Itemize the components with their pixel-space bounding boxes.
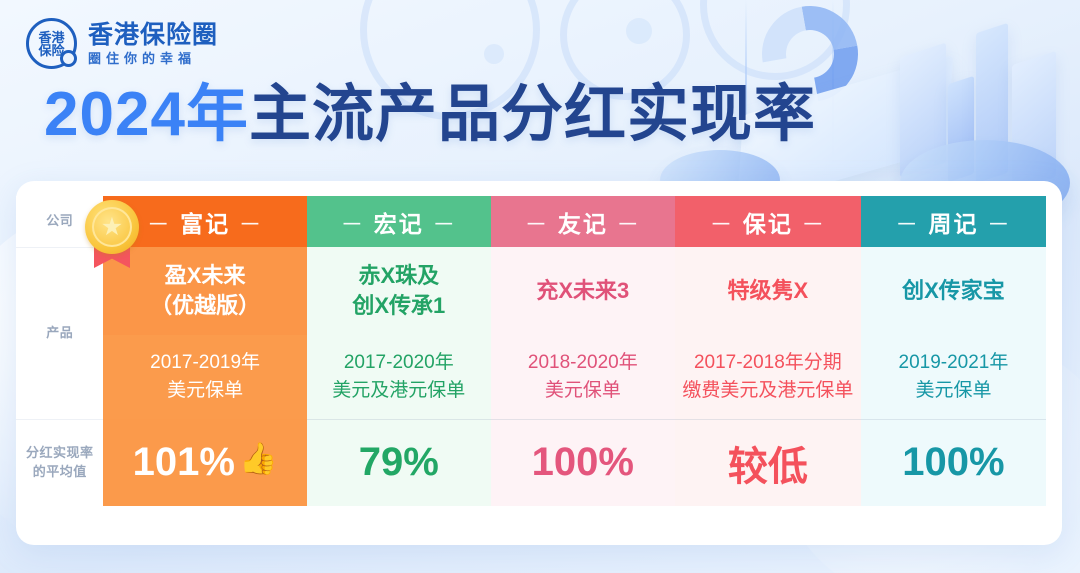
dash-right-0: － xyxy=(239,211,264,237)
term-line1-2: 2018-2020年 xyxy=(491,349,675,377)
page-title: 2024年主流产品分红实现率 xyxy=(44,84,816,146)
term-cell-3: 2017-2018年分期 缴费美元及港元保单 xyxy=(675,335,861,419)
term-line2-1: 美元及港元保单 xyxy=(307,377,491,405)
table-row-company: 公司 － 富记 － － 宏记 － － 友记 － － 保记 － － xyxy=(16,196,1046,247)
column-header-3[interactable]: － 保记 － xyxy=(675,196,861,247)
company-name-4: 周记 xyxy=(928,211,978,237)
medal-inner-ring: ★ xyxy=(92,207,132,247)
term-cell-2: 2018-2020年 美元保单 xyxy=(491,335,675,419)
logo-mark-line2: 保险 xyxy=(38,44,64,57)
term-line2-4: 美元保单 xyxy=(861,377,1046,405)
brand-tagline: 圈住你的幸福 xyxy=(88,52,218,65)
product-cell-1: 赤X珠及 创X传承1 xyxy=(307,247,491,335)
dash-right-1: － xyxy=(432,211,457,237)
product-line2-0: （优越版） xyxy=(103,291,306,321)
term-line1-0: 2017-2019年 xyxy=(103,349,306,377)
product-cell-3: 特级隽X xyxy=(675,247,861,335)
term-cell-0: 2017-2019年 美元保单 xyxy=(103,335,306,419)
term-line1-1: 2017-2020年 xyxy=(307,349,491,377)
company-name-0: 富记 xyxy=(180,211,230,237)
rate-value-0: 101% xyxy=(133,440,235,484)
dash-left-3: － xyxy=(709,211,734,237)
gold-medal-icon: ★ xyxy=(82,200,142,274)
logo-text-block: 香港保险圈 圈住你的幸福 xyxy=(88,23,218,65)
rate-cell-4: 100% xyxy=(861,419,1046,506)
brand-name: 香港保险圈 xyxy=(88,23,218,48)
brand-logo[interactable]: 香港 保险 香港保险圈 圈住你的幸福 xyxy=(26,18,218,69)
row-label-rate: 分红实现率 的平均值 xyxy=(16,419,103,506)
dash-right-2: － xyxy=(616,211,641,237)
title-year: 2024年 xyxy=(44,80,249,149)
product-cell-2: 充X未来3 xyxy=(491,247,675,335)
row-label-rate-line2: 的平均值 xyxy=(16,463,103,482)
column-header-4[interactable]: － 周记 － xyxy=(861,196,1046,247)
dash-right-4: － xyxy=(987,211,1012,237)
rate-cell-1: 79% xyxy=(307,419,491,506)
rate-cell-2: 100% xyxy=(491,419,675,506)
term-line2-0: 美元保单 xyxy=(103,377,306,405)
dividend-fulfillment-table: 公司 － 富记 － － 宏记 － － 友记 － － 保记 － － xyxy=(16,196,1046,506)
column-header-2[interactable]: － 友记 － xyxy=(491,196,675,247)
rate-cell-3: 较低 xyxy=(675,419,861,506)
term-line1-3: 2017-2018年分期 xyxy=(675,349,861,377)
dash-left-0: － xyxy=(147,211,172,237)
term-line2-2: 美元保单 xyxy=(491,377,675,405)
table-row-rate: 分红实现率 的平均值 101%👍 79% 100% 较低 100% xyxy=(16,419,1046,506)
star-icon: ★ xyxy=(101,215,123,240)
product-line1-1: 赤X珠及 xyxy=(307,261,491,291)
thumbs-up-icon: 👍 xyxy=(239,441,278,476)
dash-left-4: － xyxy=(895,211,920,237)
term-cell-1: 2017-2020年 美元及港元保单 xyxy=(307,335,491,419)
company-name-3: 保记 xyxy=(743,211,793,237)
medal-coin: ★ xyxy=(85,200,139,254)
product-cell-4: 创X传家宝 xyxy=(861,247,1046,335)
dash-left-1: － xyxy=(340,211,365,237)
dash-right-3: － xyxy=(801,211,826,237)
product-line1-3: 特级隽X xyxy=(675,276,861,306)
product-line2-1: 创X传承1 xyxy=(307,291,491,321)
table-row-term: 2017-2019年 美元保单 2017-2020年 美元及港元保单 2018-… xyxy=(16,335,1046,419)
logo-mark-line1: 香港 xyxy=(38,31,64,44)
column-header-1[interactable]: － 宏记 － xyxy=(307,196,491,247)
term-cell-4: 2019-2021年 美元保单 xyxy=(861,335,1046,419)
product-line1-2: 充X未来3 xyxy=(491,276,675,306)
term-line1-4: 2019-2021年 xyxy=(861,349,1046,377)
bg-bubble-5 xyxy=(484,44,504,64)
company-name-2: 友记 xyxy=(558,211,608,237)
row-label-rate-line1: 分红实现率 xyxy=(16,444,103,463)
rate-cell-0: 101%👍 xyxy=(103,419,306,506)
dash-left-2: － xyxy=(524,211,549,237)
product-line1-4: 创X传家宝 xyxy=(861,276,1046,306)
table-row-product: 产品 盈X未来 （优越版） 赤X珠及 创X传承1 充X未来3 特级隽X 创X传家… xyxy=(16,247,1046,335)
logo-circle-mark: 香港 保险 xyxy=(26,18,77,69)
title-main: 主流产品分红实现率 xyxy=(249,80,816,149)
term-line2-3: 缴费美元及港元保单 xyxy=(675,377,861,405)
company-name-1: 宏记 xyxy=(374,211,424,237)
